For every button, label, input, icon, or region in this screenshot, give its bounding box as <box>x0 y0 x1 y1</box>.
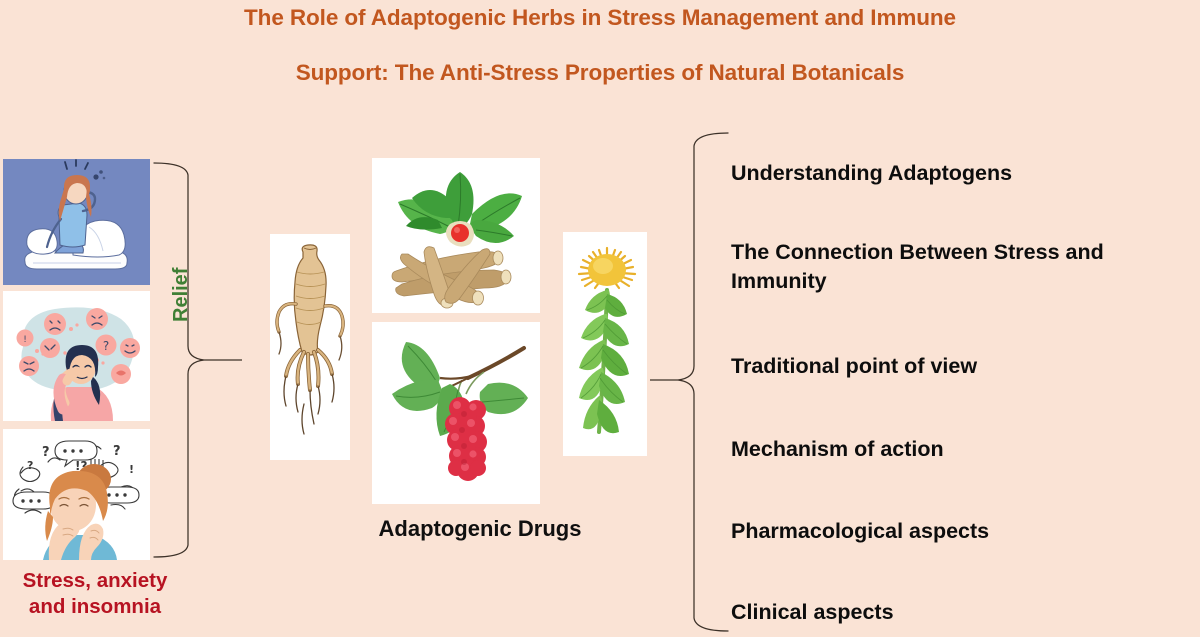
relief-brace <box>152 160 248 560</box>
page-title: The Role of Adaptogenic Herbs in Stress … <box>0 0 1200 84</box>
svg-text:!: ! <box>129 463 134 476</box>
adaptogenic-drugs-label: Adaptogenic Drugs <box>330 516 630 542</box>
rhodiola-flower-image <box>563 232 647 456</box>
topics-brace <box>650 130 730 635</box>
caption-line-1: Stress, anxiety <box>0 568 190 594</box>
stress-illustration: ? !? ? ? ! <box>3 429 150 560</box>
topic-understanding-adaptogens: Understanding Adaptogens <box>731 159 1012 188</box>
svg-text:!: ! <box>23 335 27 345</box>
ginseng-root-image <box>270 234 350 460</box>
topic-mechanism-of-action: Mechanism of action <box>731 435 944 464</box>
stress-anxiety-insomnia-caption: Stress, anxiety and insomnia <box>0 568 190 620</box>
title-line-1: The Role of Adaptogenic Herbs in Stress … <box>0 7 1200 30</box>
svg-text:?: ? <box>27 459 33 472</box>
relief-label: Relief <box>170 268 193 322</box>
topic-clinical-aspects: Clinical aspects <box>731 598 894 627</box>
svg-text:?: ? <box>42 445 50 460</box>
svg-text:?: ? <box>103 339 109 353</box>
insomnia-illustration <box>3 159 150 285</box>
topic-traditional-point-of-view: Traditional point of view <box>731 352 977 381</box>
anxiety-illustration: ! ? <box>3 291 150 421</box>
ashwagandha-image <box>372 158 540 313</box>
svg-text:?: ? <box>113 444 121 459</box>
topic-connection-stress-immunity: The Connection Between Stress and Immuni… <box>731 238 1104 295</box>
topic-pharmacological-aspects: Pharmacological aspects <box>731 517 989 546</box>
graphical-abstract: The Role of Adaptogenic Herbs in Stress … <box>0 0 1200 637</box>
title-line-2: Support: The Anti-Stress Properties of N… <box>0 62 1200 85</box>
caption-line-2: and insomnia <box>0 594 190 620</box>
schisandra-berries-image <box>372 322 540 504</box>
